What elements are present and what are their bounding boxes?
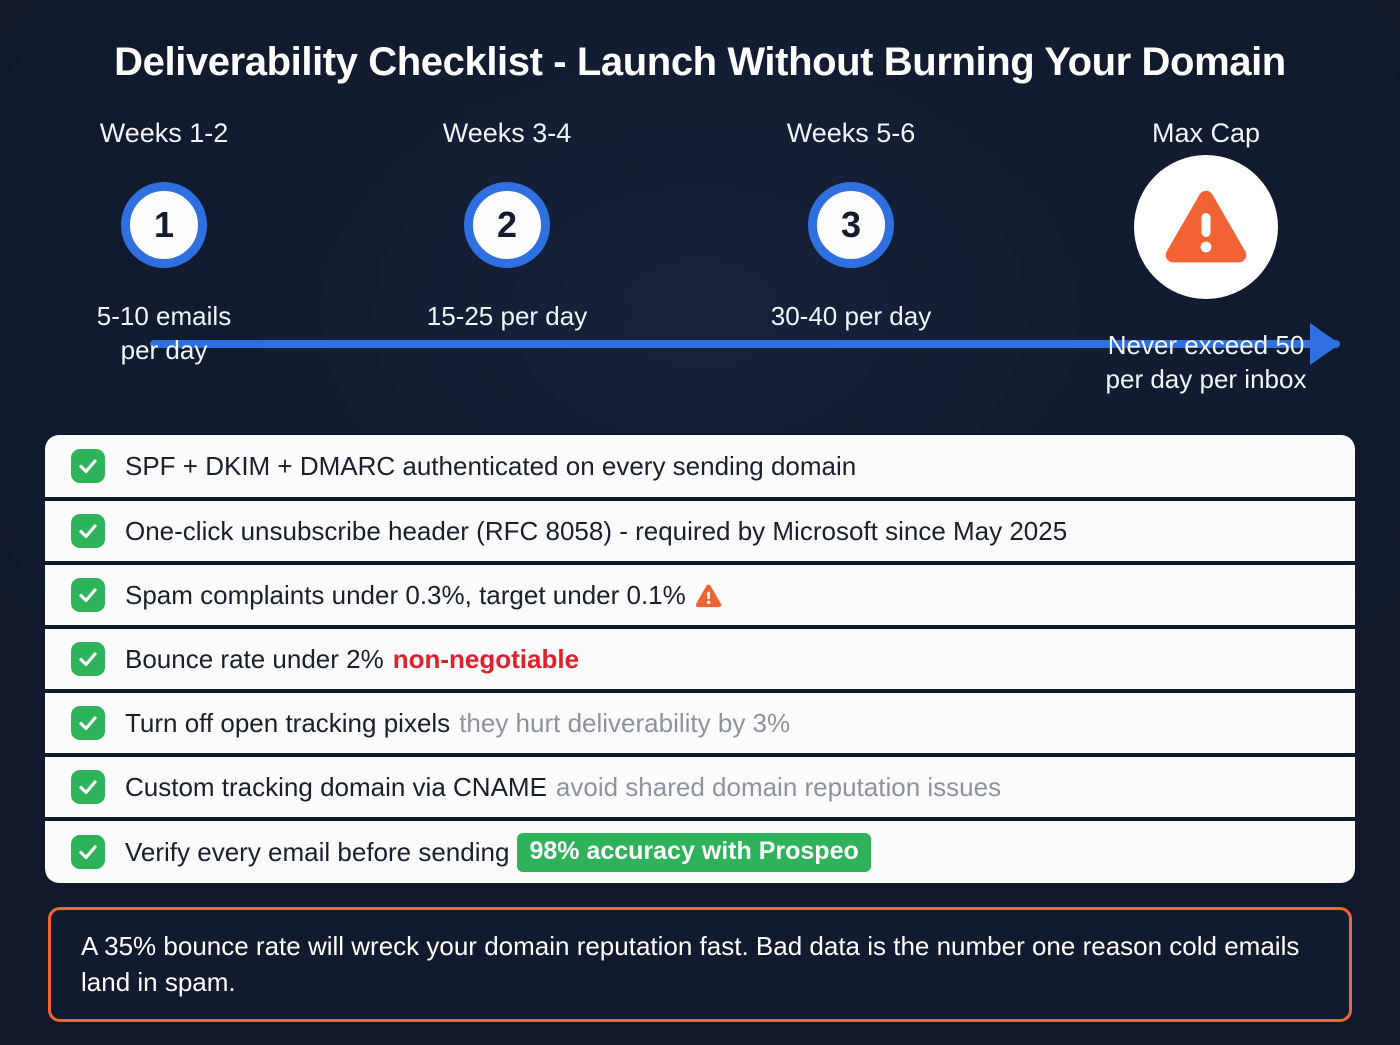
checklist-row[interactable]: Turn off open tracking pixels they hurt … bbox=[45, 693, 1355, 753]
checklist-row-label: Bounce rate under 2% non-negotiable bbox=[125, 646, 579, 672]
checklist-row[interactable]: Bounce rate under 2% non-negotiable bbox=[45, 629, 1355, 689]
timeline-step-desc: 5-10 emails per day bbox=[34, 299, 294, 368]
warning-callout: A 35% bounce rate will wreck your domain… bbox=[48, 907, 1352, 1022]
timeline-step-desc: 30-40 per day bbox=[721, 299, 981, 333]
checklist-row[interactable]: Verify every email before sending 98% ac… bbox=[45, 821, 1355, 883]
timeline-step-2: Weeks 3-4 2 15-25 per day bbox=[377, 120, 637, 333]
checklist-row-main-text: SPF + DKIM + DMARC authenticated on ever… bbox=[125, 453, 856, 479]
timeline-step-marker-wrap bbox=[1076, 152, 1336, 302]
checkbox-checked-icon[interactable] bbox=[71, 706, 105, 740]
page-title: Deliverability Checklist - Launch Withou… bbox=[0, 40, 1400, 85]
accuracy-badge: 98% accuracy with Prospeo bbox=[517, 833, 870, 872]
checklist-row[interactable]: One-click unsubscribe header (RFC 8058) … bbox=[45, 501, 1355, 561]
timeline-step-number: 3 bbox=[808, 182, 894, 268]
checklist-row-note: avoid shared domain reputation issues bbox=[556, 774, 1001, 800]
max-cap-badge bbox=[1134, 155, 1278, 299]
checklist-row-label: Verify every email before sending 98% ac… bbox=[125, 833, 871, 872]
warning-triangle-icon bbox=[1163, 189, 1249, 265]
checklist-row-main-text: Spam complaints under 0.3%, target under… bbox=[125, 582, 686, 608]
timeline-step-number: 2 bbox=[464, 182, 550, 268]
checklist-row-label: Spam complaints under 0.3%, target under… bbox=[125, 582, 722, 608]
checkbox-checked-icon[interactable] bbox=[71, 449, 105, 483]
infographic-page: Deliverability Checklist - Launch Withou… bbox=[0, 0, 1400, 1045]
checklist-row-main-text: Verify every email before sending bbox=[125, 839, 509, 865]
timeline-step-max-cap: Max Cap Never exceed 50 per day per inbo… bbox=[1076, 120, 1336, 397]
checklist-row-emphasis: non-negotiable bbox=[393, 646, 579, 672]
checklist-row-label: SPF + DKIM + DMARC authenticated on ever… bbox=[125, 453, 856, 479]
checklist-row-main-text: Bounce rate under 2% bbox=[125, 646, 384, 672]
checklist-row-label: One-click unsubscribe header (RFC 8058) … bbox=[125, 518, 1067, 544]
checkbox-checked-icon[interactable] bbox=[71, 770, 105, 804]
timeline-step-period: Weeks 3-4 bbox=[377, 120, 637, 147]
timeline-step-marker-wrap: 1 bbox=[34, 171, 294, 279]
checklist-row-main-text: One-click unsubscribe header (RFC 8058) … bbox=[125, 518, 1067, 544]
checkbox-checked-icon[interactable] bbox=[71, 642, 105, 676]
checklist-row-main-text: Custom tracking domain via CNAME bbox=[125, 774, 547, 800]
timeline-step-1: Weeks 1-2 1 5-10 emails per day bbox=[34, 120, 294, 368]
timeline-step-period: Max Cap bbox=[1076, 120, 1336, 147]
checklist-row-label: Custom tracking domain via CNAME avoid s… bbox=[125, 774, 1001, 800]
checkbox-checked-icon[interactable] bbox=[71, 578, 105, 612]
timeline-step-number: 1 bbox=[121, 182, 207, 268]
warning-triangle-icon bbox=[695, 584, 722, 608]
timeline-step-desc: 15-25 per day bbox=[377, 299, 637, 333]
timeline-step-period: Weeks 1-2 bbox=[34, 120, 294, 147]
deliverability-checklist: SPF + DKIM + DMARC authenticated on ever… bbox=[45, 433, 1355, 885]
checklist-row-label: Turn off open tracking pixels they hurt … bbox=[125, 710, 790, 736]
timeline-step-period: Weeks 5-6 bbox=[721, 120, 981, 147]
warmup-timeline: Weeks 1-2 1 5-10 emails per day Weeks 3-… bbox=[0, 120, 1400, 410]
checkbox-checked-icon[interactable] bbox=[71, 514, 105, 548]
checklist-row-main-text: Turn off open tracking pixels bbox=[125, 710, 450, 736]
timeline-step-marker-wrap: 3 bbox=[721, 171, 981, 279]
warning-callout-text: A 35% bounce rate will wreck your domain… bbox=[81, 928, 1323, 1001]
timeline-step-3: Weeks 5-6 3 30-40 per day bbox=[721, 120, 981, 333]
checklist-row[interactable]: SPF + DKIM + DMARC authenticated on ever… bbox=[45, 435, 1355, 497]
checklist-row[interactable]: Custom tracking domain via CNAME avoid s… bbox=[45, 757, 1355, 817]
checkbox-checked-icon[interactable] bbox=[71, 835, 105, 869]
checklist-row-note: they hurt deliverability by 3% bbox=[459, 710, 790, 736]
timeline-step-desc: Never exceed 50 per day per inbox bbox=[1076, 328, 1336, 397]
timeline-step-marker-wrap: 2 bbox=[377, 171, 637, 279]
checklist-row[interactable]: Spam complaints under 0.3%, target under… bbox=[45, 565, 1355, 625]
